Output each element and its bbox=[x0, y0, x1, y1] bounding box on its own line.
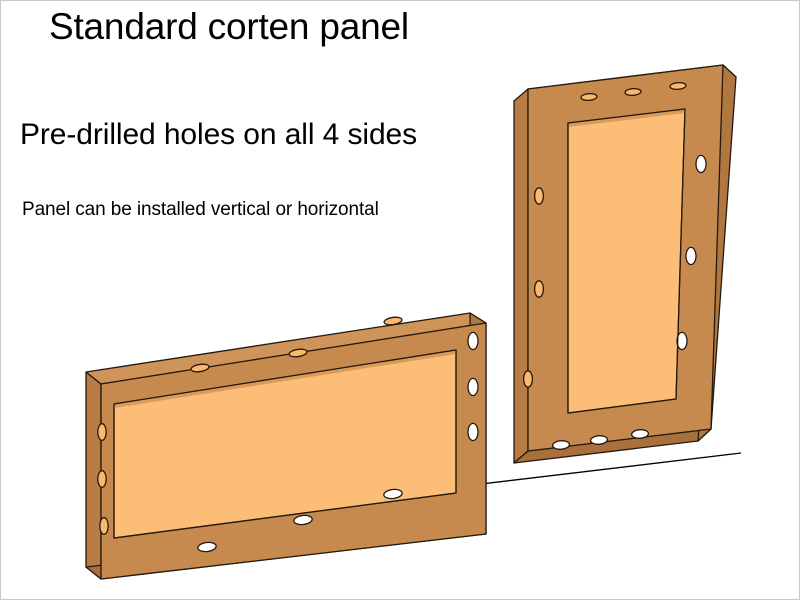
horizontal-panel-hole-right-2 bbox=[468, 378, 478, 395]
horizontal-panel-hole-left-2 bbox=[98, 471, 106, 488]
horizontal-panel-hole-left-3 bbox=[100, 518, 108, 535]
horizontal-panel bbox=[86, 313, 486, 579]
panel-illustration bbox=[1, 1, 800, 600]
vertical-panel-hole-right-2 bbox=[686, 247, 696, 264]
vertical-panel-left-side-face bbox=[514, 89, 528, 463]
vertical-panel bbox=[514, 65, 736, 463]
vertical-panel-hole-left-2 bbox=[535, 281, 544, 297]
slide-canvas: Standard corten panel Pre-drilled holes … bbox=[0, 0, 800, 600]
horizontal-panel-hole-left-1 bbox=[98, 424, 106, 441]
ground-line bbox=[448, 453, 741, 488]
vertical-panel-inner-face bbox=[568, 109, 685, 413]
vertical-panel-hole-left-1 bbox=[535, 188, 544, 204]
vertical-panel-hole-right-1 bbox=[696, 155, 706, 172]
horizontal-panel-hole-right-1 bbox=[468, 332, 478, 349]
vertical-panel-hole-left-3 bbox=[524, 371, 533, 387]
horizontal-panel-hole-right-3 bbox=[468, 423, 478, 440]
